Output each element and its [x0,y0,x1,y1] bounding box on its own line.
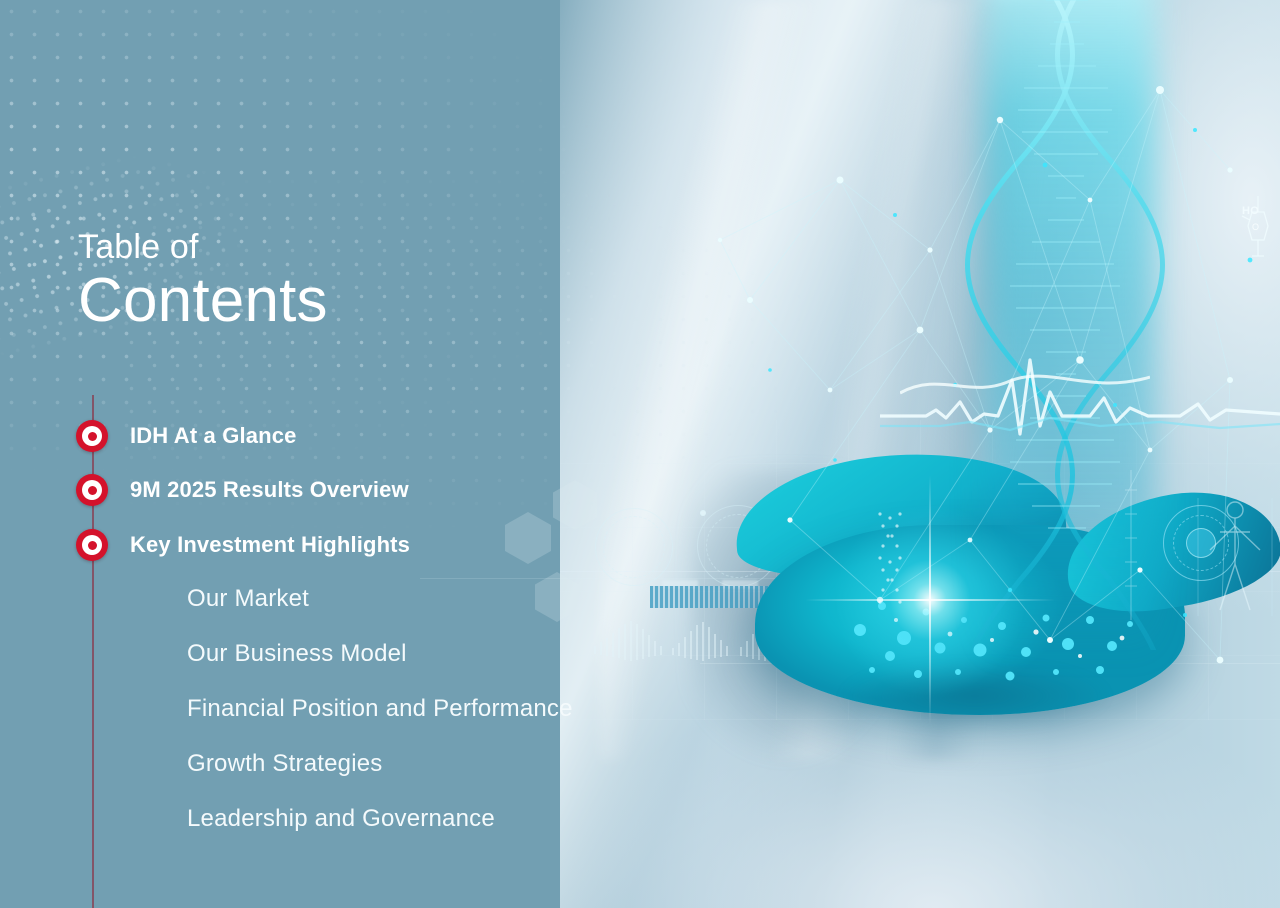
slide-canvas: O HO Table of Contents IDH At a Glance [0,0,1280,908]
title-line-1: Table of [78,228,328,266]
toc-subitem-leadership-and-governance[interactable]: Leadership and Governance [187,805,495,833]
toc-item-label: Key Investment Highlights [130,532,410,558]
toc-subitem-our-business-model[interactable]: Our Business Model [187,640,407,668]
toc-item-label: IDH At a Glance [130,423,296,449]
target-ring-white [82,426,102,446]
page-title: Table of Contents [78,228,328,333]
target-ring-icon [76,420,108,452]
toc-subitem-our-market[interactable]: Our Market [187,585,309,613]
slide-content: Table of Contents IDH At a Glance [0,0,1280,908]
timeline-vertical-rule [92,395,94,908]
title-line-2: Contents [78,268,328,333]
toc-item-key-investment-highlights[interactable]: Key Investment Highlights [76,529,410,561]
toc-subitem-growth-strategies[interactable]: Growth Strategies [187,750,382,778]
target-ring-icon [76,474,108,506]
target-ring-center [88,541,97,550]
target-ring-center [88,486,97,495]
toc-subitem-financial-position-and-performance[interactable]: Financial Position and Performance [187,695,573,723]
toc-item-idh-at-a-glance[interactable]: IDH At a Glance [76,420,296,452]
target-ring-white [82,480,102,500]
target-ring-icon [76,529,108,561]
target-ring-center [88,432,97,441]
toc-item-label: 9M 2025 Results Overview [130,477,409,503]
target-ring-white [82,535,102,555]
toc-item-9m-2025-results-overview[interactable]: 9M 2025 Results Overview [76,474,409,506]
